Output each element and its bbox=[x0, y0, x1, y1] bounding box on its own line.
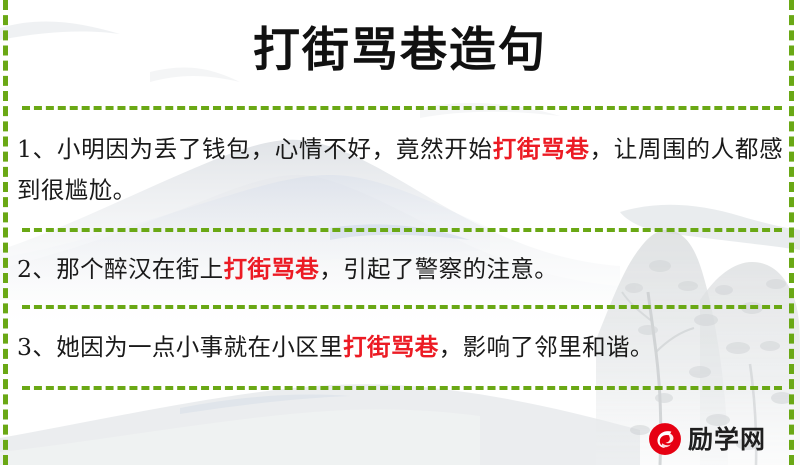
site-watermark-text: 励学网 bbox=[688, 427, 766, 452]
sentence-text-before-2: 那个醉汉在街上 bbox=[56, 255, 223, 283]
idiom-highlight-2: 打街骂巷 bbox=[224, 255, 320, 283]
idiom-highlight-1: 打街骂巷 bbox=[493, 135, 590, 163]
sentence-number-1: 1、 bbox=[17, 135, 57, 163]
divider-2 bbox=[22, 228, 782, 232]
idiom-highlight-3: 打街骂巷 bbox=[343, 333, 439, 361]
left-dashed-border bbox=[3, 0, 8, 465]
sentence-text-after-2: ，引起了警察的注意。 bbox=[319, 255, 558, 283]
sentence-example-page: 打街骂巷造句 1、小明因为丢了钱包，心情不好，竟然开始打街骂巷，让周围的人都感到… bbox=[0, 0, 800, 465]
sentence-item-1: 1、小明因为丢了钱包，心情不好，竟然开始打街骂巷，让周围的人都感到很尴尬。 bbox=[17, 129, 783, 211]
divider-3 bbox=[22, 305, 782, 309]
sentence-item-3: 3、她因为一点小事就在小区里打街骂巷，影响了邻里和谐。 bbox=[17, 327, 783, 368]
divider-1 bbox=[22, 106, 782, 110]
sentence-number-3: 3、 bbox=[17, 333, 56, 361]
sentence-item-2: 2、那个醉汉在街上打街骂巷，引起了警察的注意。 bbox=[17, 249, 783, 290]
sentence-number-2: 2、 bbox=[17, 255, 56, 283]
divider-4 bbox=[22, 386, 782, 390]
sentence-text-before-3: 她因为一点小事就在小区里 bbox=[56, 333, 343, 361]
sentence-text-after-3: ，影响了邻里和谐。 bbox=[439, 333, 654, 361]
page-title: 打街骂巷造句 bbox=[0, 22, 800, 81]
right-dashed-border bbox=[789, 0, 794, 465]
swirl-bird-logo-icon bbox=[648, 422, 682, 456]
site-watermark: 励学网 bbox=[648, 422, 766, 456]
content-area: 打街骂巷造句 1、小明因为丢了钱包，心情不好，竟然开始打街骂巷，让周围的人都感到… bbox=[0, 0, 800, 465]
sentence-text-before-1: 小明因为丢了钱包，心情不好，竟然开始 bbox=[57, 135, 493, 163]
